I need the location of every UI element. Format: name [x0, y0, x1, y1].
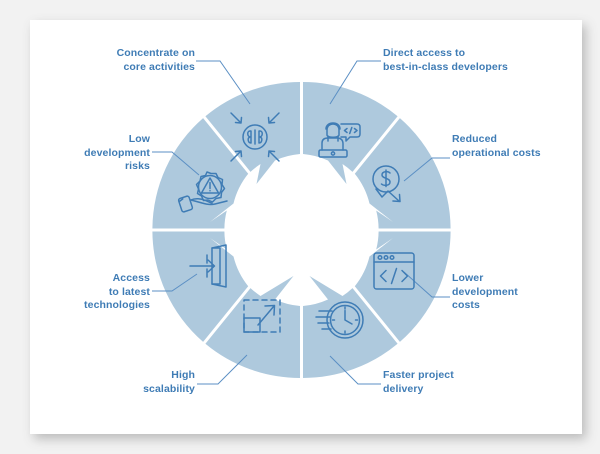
- label-direct-access-to-developers: Direct access to best-in-class developer…: [383, 47, 548, 74]
- label-faster-project-delivery: Faster project delivery: [383, 369, 518, 396]
- label-access-to-latest-technologies: Access to latest technologies: [40, 272, 150, 313]
- diagram-stage: Concentrate on core activities Direct ac…: [0, 0, 600, 454]
- screenshot-root: Concentrate on core activities Direct ac…: [0, 0, 600, 454]
- label-lower-development-costs: Lower development costs: [452, 272, 567, 313]
- label-low-development-risks: Low development risks: [40, 133, 150, 174]
- label-high-scalability: High scalability: [90, 369, 195, 396]
- wheel-segments: [152, 82, 450, 378]
- label-reduced-operational-costs: Reduced operational costs: [452, 133, 577, 160]
- label-concentrate-on-core-activities: Concentrate on core activities: [60, 47, 195, 74]
